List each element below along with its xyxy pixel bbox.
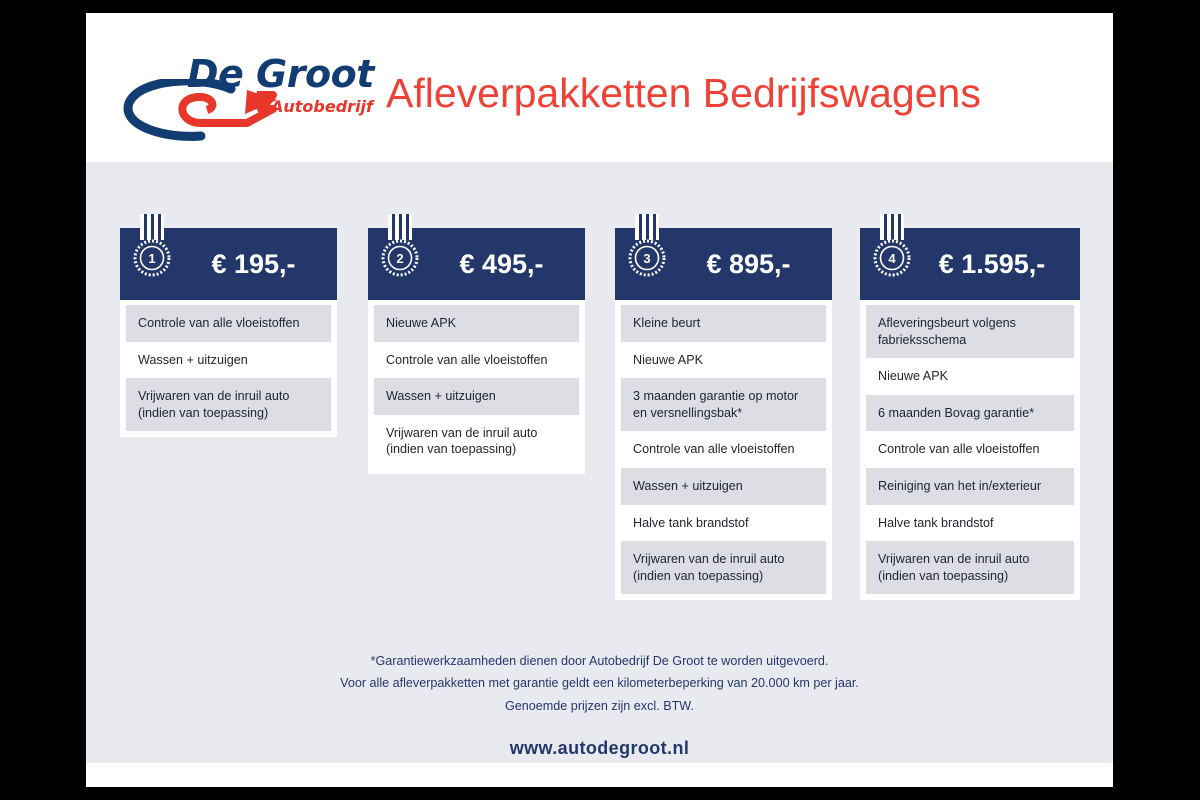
- poster-page: De Groot Autobedrijf Afleverpakketten Be…: [86, 13, 1113, 787]
- list-item: Controle van alle vloeistoffen: [126, 305, 331, 342]
- package-price-3: € 895,-: [673, 228, 824, 300]
- list-item: Vrijwaren van de inruil auto (indien van…: [374, 415, 579, 468]
- package-card-1[interactable]: 1 € 195,- Controle van alle vloeistoffen…: [120, 228, 337, 437]
- package-items-4: Afleveringsbeurt volgens fabrieksschema …: [860, 300, 1080, 600]
- list-item: Wassen + uitzuigen: [621, 468, 826, 505]
- list-item: 3 maanden garantie op motor en versnelli…: [621, 378, 826, 431]
- list-item: Wassen + uitzuigen: [374, 378, 579, 415]
- list-item: Vrijwaren van de inruil auto (indien van…: [866, 541, 1074, 594]
- screenshot-canvas: De Groot Autobedrijf Afleverpakketten Be…: [0, 0, 1200, 800]
- list-item: Vrijwaren van de inruil auto (indien van…: [621, 541, 826, 594]
- list-item: Controle van alle vloeistoffen: [621, 431, 826, 468]
- list-item: Controle van alle vloeistoffen: [374, 342, 579, 379]
- company-logo[interactable]: De Groot Autobedrijf: [119, 59, 389, 139]
- package-items-2: Nieuwe APK Controle van alle vloeistoffe…: [368, 300, 585, 474]
- package-price-4: € 1.595,-: [912, 228, 1072, 300]
- list-item: Vrijwaren van de inruil auto (indien van…: [126, 378, 331, 431]
- list-item: Nieuwe APK: [866, 358, 1074, 395]
- page-header: De Groot Autobedrijf Afleverpakketten Be…: [86, 13, 1113, 162]
- package-header-1: 1 € 195,-: [120, 228, 337, 300]
- website-link[interactable]: www.autodegroot.nl: [86, 738, 1113, 759]
- footer-note-1: *Garantiewerkzaamheden dienen door Autob…: [86, 650, 1113, 672]
- medal-number-4: 4: [888, 251, 896, 266]
- package-card-4[interactable]: 4 € 1.595,- Afleveringsbeurt volgens fab…: [860, 228, 1080, 600]
- list-item: Reiniging van het in/exterieur: [866, 468, 1074, 505]
- package-header-4: 4 € 1.595,-: [860, 228, 1080, 300]
- page-title: Afleverpakketten Bedrijfswagens: [386, 69, 1086, 118]
- medal-number-1: 1: [148, 251, 155, 266]
- list-item: Afleveringsbeurt volgens fabrieksschema: [866, 305, 1074, 358]
- packages-container: 1 € 195,- Controle van alle vloeistoffen…: [86, 162, 1113, 662]
- package-items-3: Kleine beurt Nieuwe APK 3 maanden garant…: [615, 300, 832, 600]
- logo-wordmark: De Groot: [187, 55, 374, 93]
- bottom-white-strip: [86, 763, 1113, 787]
- footer: *Garantiewerkzaamheden dienen door Autob…: [86, 650, 1113, 759]
- medal-2-icon: 2: [380, 214, 420, 280]
- package-header-3: 3 € 895,-: [615, 228, 832, 300]
- package-card-2[interactable]: 2 € 495,- Nieuwe APK Controle van alle v…: [368, 228, 585, 474]
- medal-number-3: 3: [643, 251, 650, 266]
- medal-1-icon: 1: [132, 214, 172, 280]
- package-items-1: Controle van alle vloeistoffen Wassen + …: [120, 300, 337, 437]
- list-item: 6 maanden Bovag garantie*: [866, 395, 1074, 432]
- medal-4-icon: 4: [872, 214, 912, 280]
- footer-note-2: Voor alle afleverpakketten met garantie …: [86, 672, 1113, 694]
- package-header-2: 2 € 495,-: [368, 228, 585, 300]
- medal-number-2: 2: [396, 251, 403, 266]
- list-item: Controle van alle vloeistoffen: [866, 431, 1074, 468]
- list-item: Nieuwe APK: [621, 342, 826, 379]
- package-card-3[interactable]: 3 € 895,- Kleine beurt Nieuwe APK 3 maan…: [615, 228, 832, 600]
- list-item: Kleine beurt: [621, 305, 826, 342]
- package-price-1: € 195,-: [178, 228, 329, 300]
- list-item: Wassen + uitzuigen: [126, 342, 331, 379]
- medal-3-icon: 3: [627, 214, 667, 280]
- list-item: Nieuwe APK: [374, 305, 579, 342]
- package-price-2: € 495,-: [426, 228, 577, 300]
- logo-subtitle: Autobedrijf: [271, 99, 373, 115]
- list-item: Halve tank brandstof: [866, 505, 1074, 542]
- list-item: Halve tank brandstof: [621, 505, 826, 542]
- footer-note-3: Genoemde prijzen zijn excl. BTW.: [86, 695, 1113, 717]
